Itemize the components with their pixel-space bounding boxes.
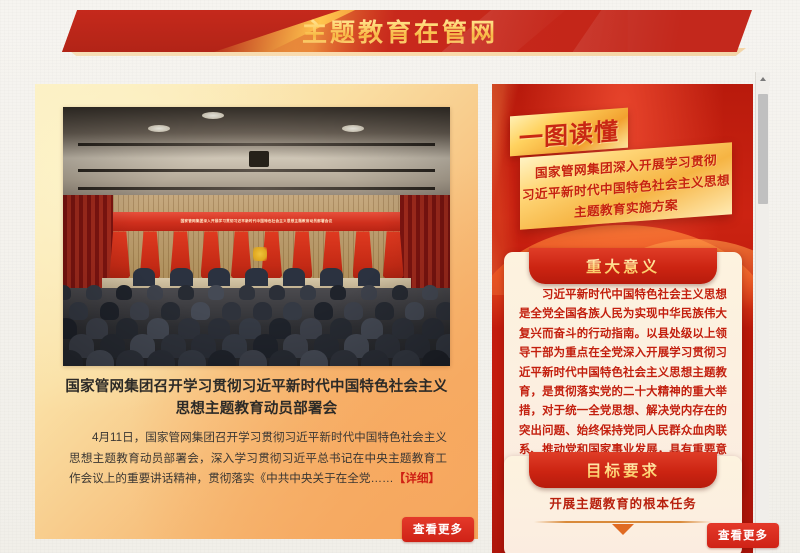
- article-title[interactable]: 国家管网集团召开学习贯彻习近平新时代中国特色社会主义思想主题教育动员部署会: [59, 376, 454, 420]
- page-title: 主题教育在管网: [0, 10, 800, 52]
- section-body-text: 习近平新时代中国特色社会主义思想是全党全国各族人民为实现中华民族伟大复兴而奋斗的…: [519, 286, 727, 480]
- right-infographic-panel: 一图读懂 国家管网集团深入开展学习贯彻 习近平新时代中国特色社会主义思想 主题教…: [492, 84, 753, 553]
- article-summary-text: 4月11日，国家管网集团召开学习贯彻习近平新时代中国特色社会主义思想主题教育动员…: [69, 431, 447, 485]
- article-summary: 4月11日，国家管网集团召开学习贯彻习近平新时代中国特色社会主义思想主题教育动员…: [69, 428, 447, 490]
- section-subtitle: 开展主题教育的根本任务: [519, 490, 727, 512]
- page-header: 主题教育在管网: [0, 0, 800, 70]
- section-heading-label: 目标要求: [586, 459, 660, 481]
- right-more-button[interactable]: 查看更多: [707, 523, 779, 548]
- section-heading-banner: 重大意义: [529, 248, 717, 284]
- detail-link[interactable]: 【详细】: [394, 472, 440, 485]
- section-heading-label: 重大意义: [586, 255, 660, 277]
- chevron-up-icon: [760, 77, 766, 81]
- left-feature-card: 国家管网集团深入开展学习贯彻习近平新时代中国特色社会主义思想主题教育动员部署会议: [35, 84, 478, 539]
- down-arrow-icon: [612, 524, 634, 535]
- left-more-button[interactable]: 查看更多: [402, 517, 474, 542]
- page-scrollbar[interactable]: [755, 72, 769, 553]
- infographic-tag-label: 一图读懂: [519, 111, 619, 153]
- section-heading-banner: 目标要求: [529, 452, 717, 488]
- scrollbar-thumb[interactable]: [758, 94, 768, 204]
- section-rule: [534, 521, 713, 523]
- photo-vignette: [63, 107, 450, 366]
- scrollbar-up-arrow[interactable]: [756, 72, 770, 86]
- conference-photo[interactable]: 国家管网集团深入开展学习贯彻习近平新时代中国特色社会主义思想主题教育动员部署会议: [63, 107, 450, 366]
